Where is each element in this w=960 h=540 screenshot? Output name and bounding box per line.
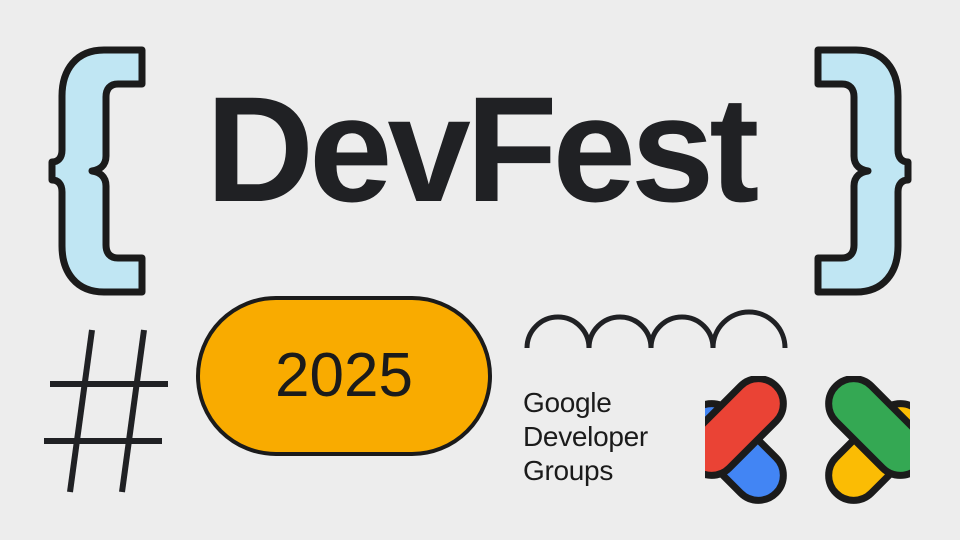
gdg-lockup: Google Developer Groups xyxy=(523,386,923,504)
gdg-wordmark-line-2: Developer xyxy=(523,420,648,454)
arch-4 xyxy=(713,312,785,348)
gdg-wordmark-line-3: Groups xyxy=(523,454,648,488)
gdg-right-chevron xyxy=(818,376,910,506)
arch-1 xyxy=(527,317,589,348)
year-pill-badge: 2025 xyxy=(196,296,492,456)
devfest-poster: DevFest 2025 Google D xyxy=(0,0,960,540)
arches-wave-decoration xyxy=(524,296,792,350)
arch-3 xyxy=(651,317,713,348)
hash-stroke-vertical-2 xyxy=(122,330,144,492)
gdg-wordmark: Google Developer Groups xyxy=(523,386,648,488)
devfest-wordmark: DevFest xyxy=(0,74,960,224)
year-pill-label: 2025 xyxy=(275,345,413,407)
gdg-left-chevron xyxy=(705,376,794,506)
arch-2 xyxy=(589,317,651,348)
gdg-logo-icon xyxy=(705,376,910,506)
hash-stroke-vertical-1 xyxy=(70,330,92,492)
hash-icon xyxy=(44,322,174,498)
gdg-wordmark-line-1: Google xyxy=(523,386,648,420)
